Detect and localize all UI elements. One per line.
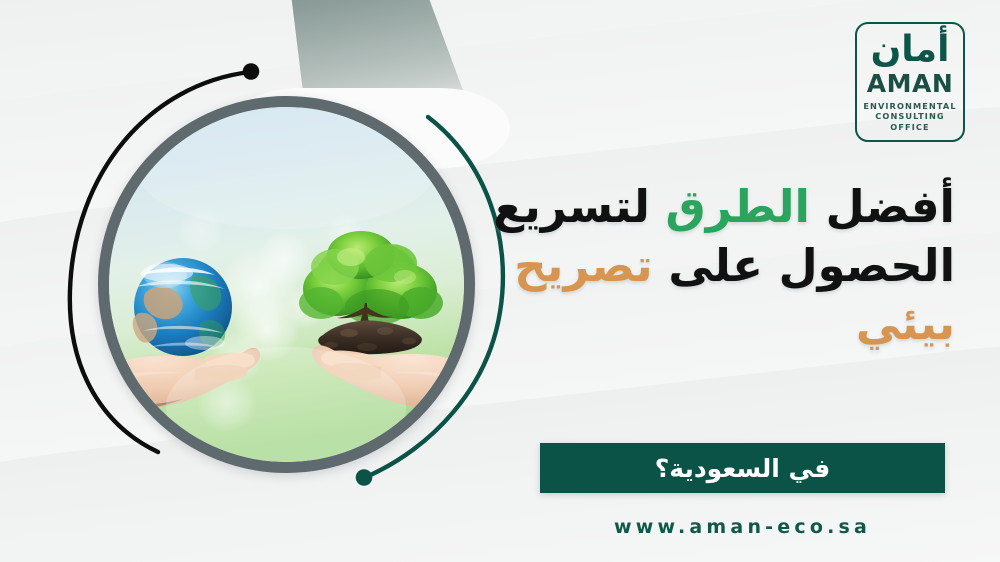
logo-arabic-name: أمان: [871, 32, 950, 68]
earth-and-tree-illustration: [109, 107, 464, 462]
poster-canvas: أمان AMAN ENVIRONMENTAL CONSULTING OFFIC…: [0, 0, 1000, 562]
website-url[interactable]: www.aman-eco.sa: [540, 516, 945, 538]
page-title: أفضل الطرق لتسريع الحصول على تصريح بيئي: [485, 178, 955, 354]
decorative-arc-black-dot-icon: [243, 63, 260, 80]
logo-latin-name: AMAN: [867, 71, 954, 96]
lens-ring-border: [98, 96, 475, 473]
magnifier-lens-image: [98, 96, 475, 473]
logo-subtitle-line-1: ENVIRONMENTAL: [863, 101, 956, 111]
headline-part-1: أفضل: [810, 180, 955, 233]
headline-part-2-highlight-green: الطرق: [666, 180, 810, 233]
lens-photo-content: [109, 107, 464, 462]
logo-subtitle-line-2: CONSULTING OFFICE: [857, 111, 963, 132]
aman-logo[interactable]: أمان AMAN ENVIRONMENTAL CONSULTING OFFIC…: [855, 22, 965, 142]
cta-banner-label: في السعودية؟: [655, 454, 830, 483]
cta-banner: في السعودية؟: [540, 443, 945, 493]
